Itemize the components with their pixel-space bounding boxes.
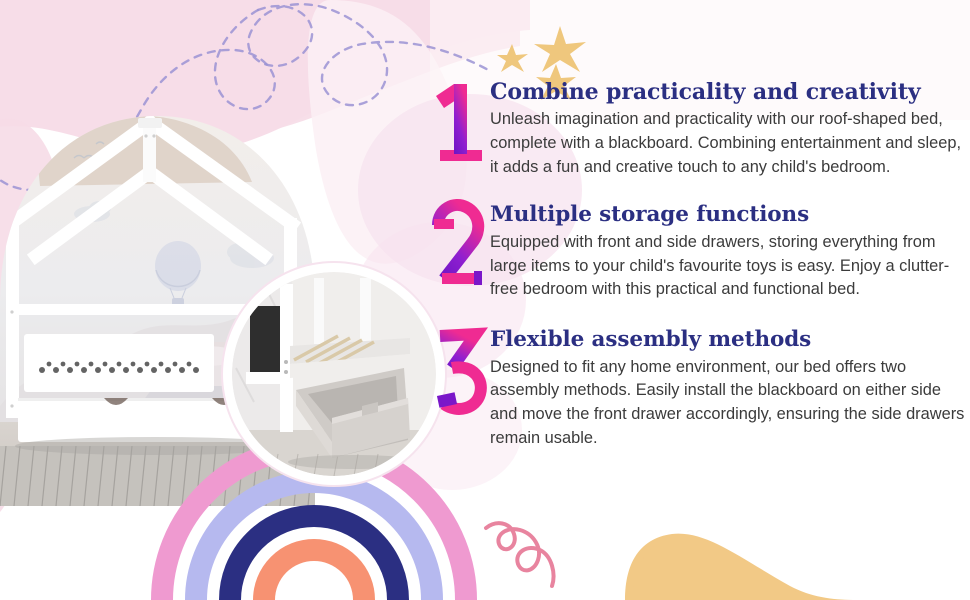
feature-item: Combine practicality and creativity Unle…: [432, 78, 970, 179]
feature-item: Flexible assembly methods Designed to fi…: [432, 328, 970, 451]
feature-description: Unleash imagination and practicality wit…: [490, 108, 970, 180]
feature-title: Flexible assembly methods: [490, 328, 970, 352]
infographic-canvas: Combine practicality and creativity Unle…: [0, 0, 970, 600]
numeral-3: [432, 324, 488, 420]
feature-item: Multiple storage functions Equipped with…: [432, 203, 970, 302]
numeral-1: [432, 74, 488, 170]
numeral-2: [432, 199, 488, 295]
feature-list: Combine practicality and creativity Unle…: [432, 78, 970, 451]
feature-title: Combine practicality and creativity: [490, 80, 970, 105]
pink-curl: [486, 523, 554, 586]
feature-description: Designed to fit any home environment, ou…: [490, 356, 970, 452]
feature-description: Equipped with front and side drawers, st…: [490, 231, 970, 303]
feature-title: Multiple storage functions: [490, 203, 970, 227]
